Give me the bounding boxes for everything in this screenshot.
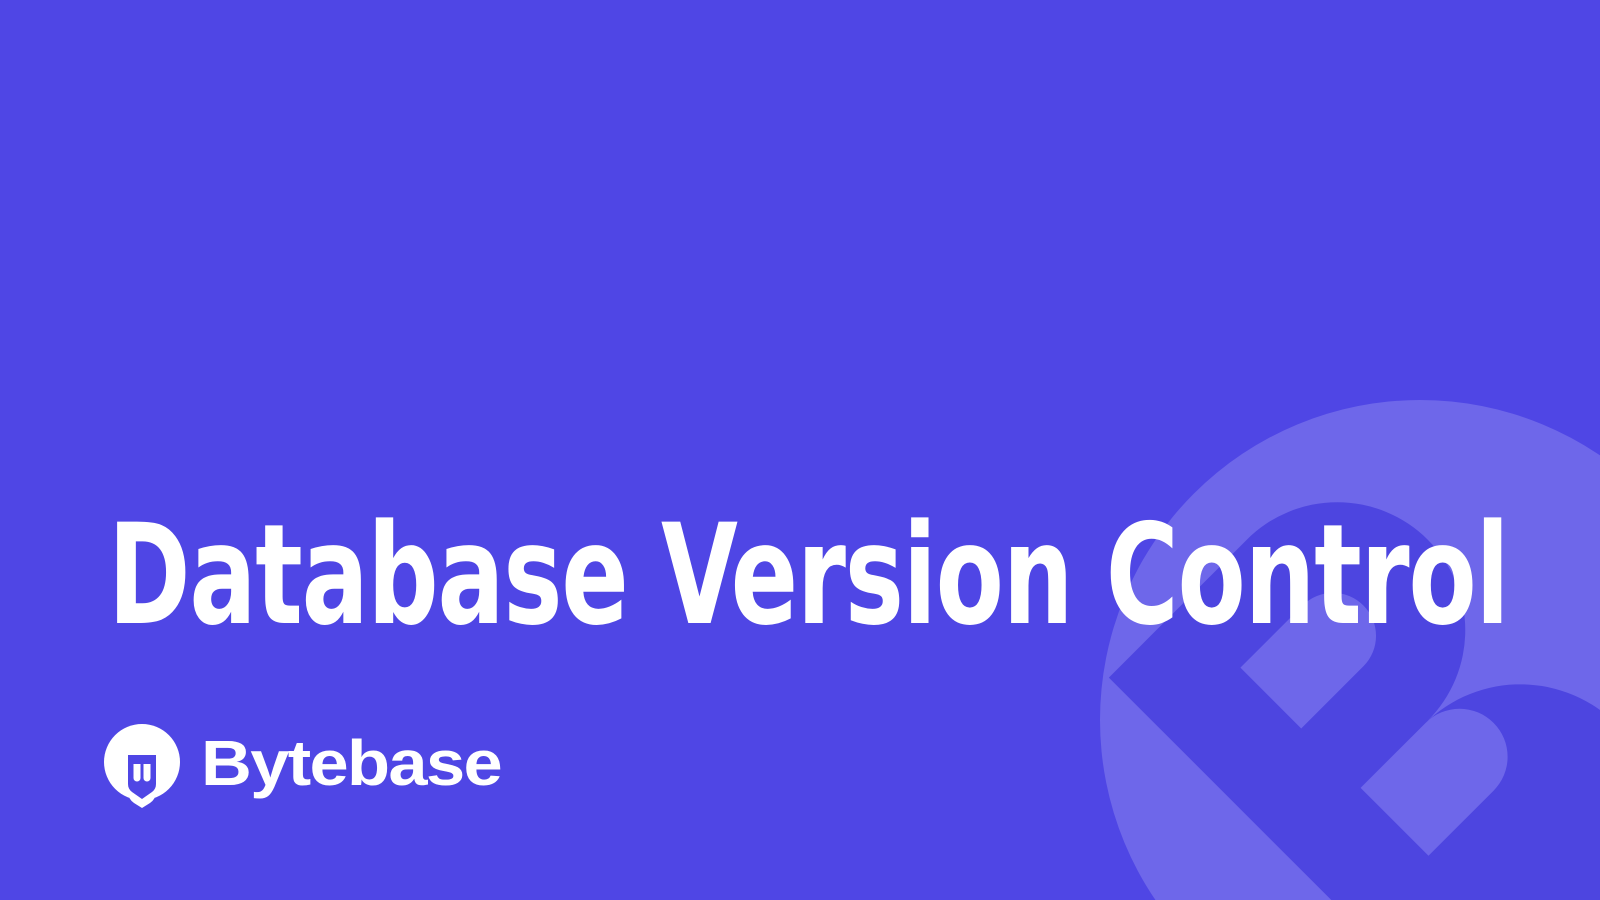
brand-logo-lockup: Bytebase [104,724,511,808]
bytebase-wordmark: Bytebase [201,730,511,802]
bytebase-wordmark-text: Bytebase [201,730,501,799]
page-title-line-1: Database Version Control [108,497,1173,653]
bytebase-speech-bubble-logo-icon [104,724,180,808]
cover-card: Database Version Control Best Practice [0,0,1600,900]
